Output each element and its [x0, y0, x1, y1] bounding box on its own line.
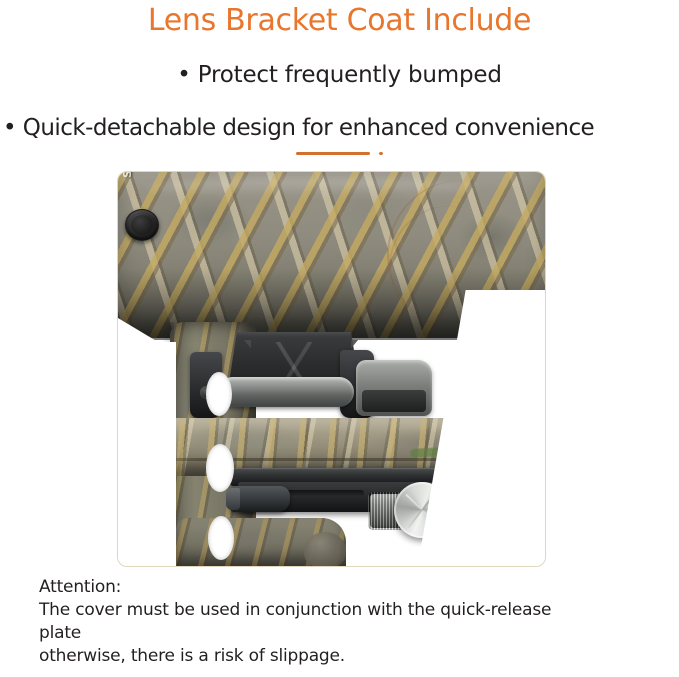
- column-cutout: [206, 444, 234, 492]
- divider-dot-icon: [379, 152, 383, 155]
- bullet-text: Quick-detachable design for enhanced con…: [23, 115, 594, 141]
- column-cutout: [208, 516, 234, 560]
- attention-heading: Attention:: [39, 576, 679, 599]
- feature-bullet-2: • Quick-detachable design for enhanced c…: [3, 113, 679, 143]
- collar-ring-metal: [356, 360, 432, 416]
- product-photo-frame: SING: [117, 171, 546, 567]
- page-title: Lens Bracket Coat Include: [0, 2, 679, 40]
- product-photo: SING: [118, 172, 545, 566]
- attention-line-3: otherwise, there is a risk of slippage.: [39, 645, 679, 668]
- brand-logo-text: SING: [121, 172, 134, 178]
- rubber-grommet-button: [125, 209, 159, 241]
- photo-background-left: [118, 342, 176, 566]
- bullet-marker: •: [3, 115, 16, 141]
- decorative-divider: [296, 150, 388, 158]
- feature-bullet-1: • Protect frequently bumped: [0, 60, 679, 90]
- tripod-head-lower-knob: [304, 532, 346, 566]
- product-feature-card: Lens Bracket Coat Include • Protect freq…: [0, 0, 679, 677]
- divider-line: [296, 152, 370, 155]
- bullet-text: Protect frequently bumped: [198, 62, 502, 88]
- attention-line-2: plate: [39, 622, 679, 645]
- pivot-cylinder: [218, 377, 354, 407]
- quick-release-lever-lip: [226, 488, 240, 510]
- bullet-marker: •: [177, 62, 190, 88]
- column-cutout: [206, 372, 232, 416]
- attention-note: Attention: The cover must be used in con…: [39, 576, 679, 668]
- attention-line-1: The cover must be used in conjunction wi…: [39, 599, 679, 622]
